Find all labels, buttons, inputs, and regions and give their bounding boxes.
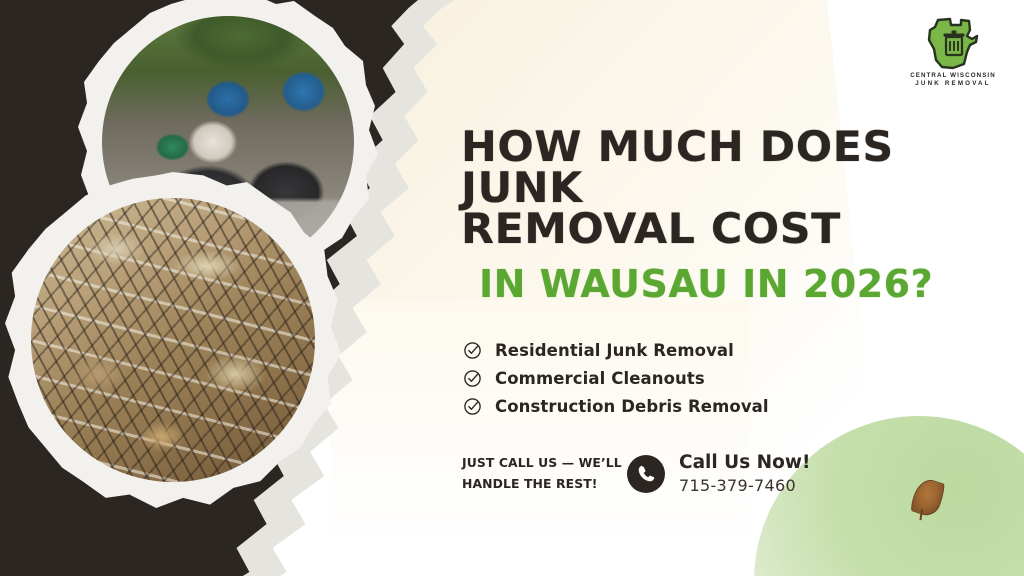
cta-contact: Call Us Now! 715-379-7460 bbox=[679, 452, 810, 495]
check-circle-icon bbox=[463, 397, 482, 416]
photo-furniture-pile bbox=[5, 172, 341, 508]
cta-call-label: Call Us Now! bbox=[679, 452, 810, 474]
phone-icon bbox=[636, 463, 657, 484]
headline-line-1: HOW MUCH DOES JUNK bbox=[461, 126, 991, 208]
photo-furniture-pile-image bbox=[31, 198, 315, 482]
call-to-action: JUST CALL US — WE’LL HANDLE THE REST! Ca… bbox=[462, 452, 810, 495]
headline-line-2: REMOVAL COST bbox=[461, 208, 991, 249]
service-label: Commercial Cleanouts bbox=[495, 369, 705, 388]
services-list: Residential Junk Removal Commercial Clea… bbox=[463, 341, 769, 425]
list-item: Commercial Cleanouts bbox=[463, 369, 769, 388]
check-circle-icon bbox=[463, 341, 482, 360]
service-label: Construction Debris Removal bbox=[495, 397, 769, 416]
cta-phone-number[interactable]: 715-379-7460 bbox=[679, 476, 810, 495]
service-label: Residential Junk Removal bbox=[495, 341, 734, 360]
headline-block: HOW MUCH DOES JUNK REMOVAL COST IN WAUSA… bbox=[461, 126, 981, 303]
cta-tagline-line2: HANDLE THE REST! bbox=[462, 474, 627, 494]
check-circle-icon bbox=[463, 369, 482, 388]
list-item: Residential Junk Removal bbox=[463, 341, 769, 360]
cta-tagline: JUST CALL US — WE’LL HANDLE THE REST! bbox=[462, 453, 627, 494]
logo-name-line1: CENTRAL WISCONSIN bbox=[904, 72, 1002, 80]
wisconsin-trashcan-icon bbox=[920, 16, 986, 72]
headline-accent-line: IN WAUSAU IN 2026? bbox=[479, 265, 981, 303]
logo-name-line2: JUNK REMOVAL bbox=[904, 80, 1002, 88]
cta-tagline-line1: JUST CALL US — WE’LL bbox=[462, 453, 627, 473]
brand-logo[interactable]: CENTRAL WISCONSIN JUNK REMOVAL bbox=[904, 16, 1002, 89]
phone-icon-badge[interactable] bbox=[627, 455, 665, 493]
list-item: Construction Debris Removal bbox=[463, 397, 769, 416]
promo-banner: CENTRAL WISCONSIN JUNK REMOVAL HOW MUCH … bbox=[0, 0, 1024, 576]
